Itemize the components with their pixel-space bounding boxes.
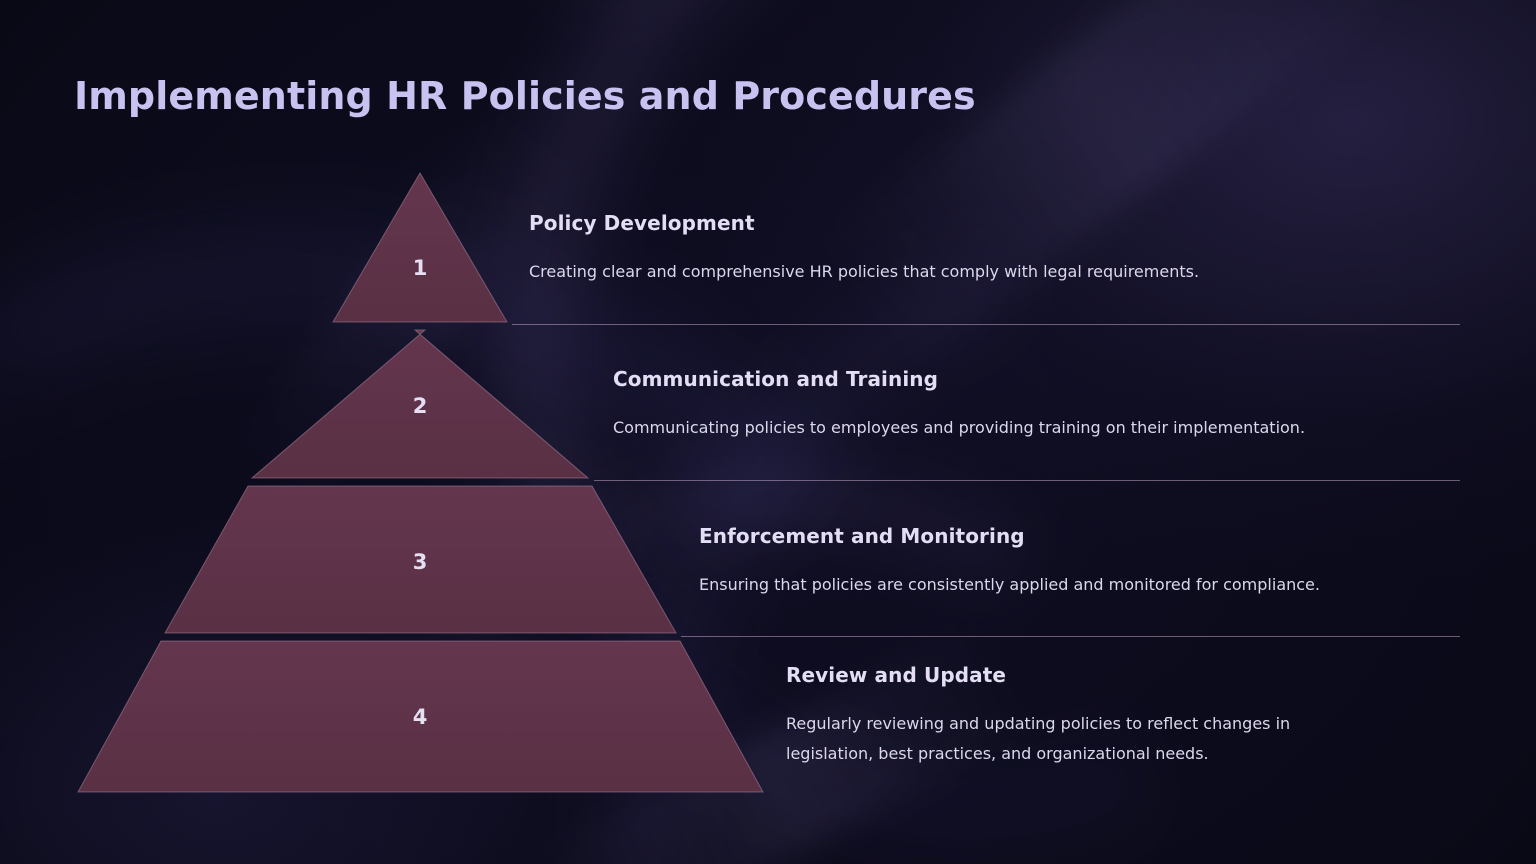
step-1-title: Policy Development — [529, 211, 1429, 235]
pyramid-tier-3-number: 3 — [390, 550, 450, 574]
step-3-description: Ensuring that policies are consistently … — [699, 570, 1459, 600]
step-block-4[interactable]: Review and Update Regularly reviewing an… — [786, 663, 1381, 769]
pyramid-tier-1[interactable] — [333, 173, 507, 322]
pyramid-tier-2-number: 2 — [390, 394, 450, 418]
slide-canvas: Implementing HR Policies and Procedures … — [0, 0, 1536, 864]
step-1-description: Creating clear and comprehensive HR poli… — [529, 257, 1429, 287]
step-2-description: Communicating policies to employees and … — [613, 413, 1443, 443]
step-2-title: Communication and Training — [613, 367, 1443, 391]
divider-rule-2 — [594, 480, 1460, 481]
divider-rule-3 — [681, 636, 1460, 637]
step-3-title: Enforcement and Monitoring — [699, 524, 1459, 548]
pyramid-tier-1-number: 1 — [390, 256, 450, 280]
step-block-2[interactable]: Communication and Training Communicating… — [613, 367, 1443, 443]
step-block-1[interactable]: Policy Development Creating clear and co… — [529, 211, 1429, 287]
step-4-title: Review and Update — [786, 663, 1381, 687]
divider-rule-1 — [512, 324, 1460, 325]
step-block-3[interactable]: Enforcement and Monitoring Ensuring that… — [699, 524, 1459, 600]
pyramid-tier-4-number: 4 — [390, 705, 450, 729]
step-4-description: Regularly reviewing and updating policie… — [786, 709, 1381, 769]
